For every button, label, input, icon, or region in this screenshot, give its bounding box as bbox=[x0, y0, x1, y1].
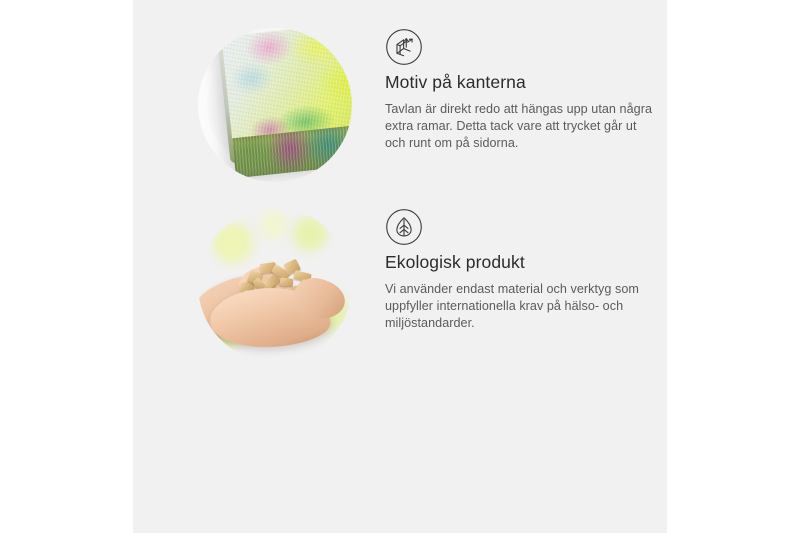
canvas-wrapped-edges-icon bbox=[385, 28, 423, 66]
leaf-icon bbox=[385, 208, 423, 246]
feature-title: Motiv på kanterna bbox=[385, 72, 655, 94]
feature-copy-eco-product: Ekologisk produkt Vi använder endast mat… bbox=[385, 208, 655, 332]
screenshot-root: Motiv på kanterna Tavlan är direkt redo … bbox=[0, 0, 800, 533]
canvas-corner-object bbox=[222, 28, 352, 178]
bokeh-highlight bbox=[213, 223, 253, 263]
feature-copy-wrapped-edges: Motiv på kanterna Tavlan är direkt redo … bbox=[385, 28, 655, 152]
bokeh-highlight bbox=[260, 211, 288, 239]
product-info-panel: Motiv på kanterna Tavlan är direkt redo … bbox=[133, 0, 667, 533]
feature-description: Tavlan är direkt redo att hängas upp uta… bbox=[385, 101, 655, 152]
wood-chip bbox=[279, 277, 292, 287]
bokeh-highlight bbox=[293, 217, 327, 251]
canvas-corner-photo bbox=[198, 28, 352, 182]
feature-description: Vi använder endast material och verktyg … bbox=[385, 281, 655, 332]
feature-title: Ekologisk produkt bbox=[385, 252, 655, 274]
wood-chips-in-hands-photo bbox=[198, 208, 352, 362]
